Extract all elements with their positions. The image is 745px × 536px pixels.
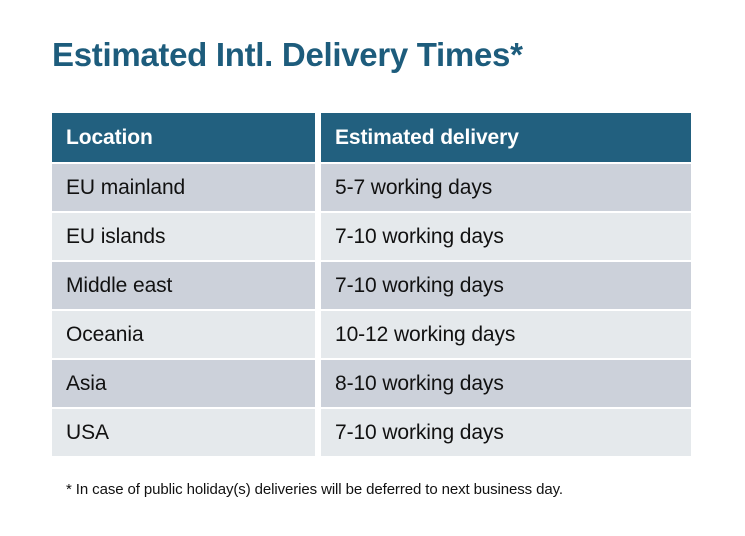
table-body: EU mainland 5-7 working days EU islands … (52, 162, 691, 456)
cell-location: EU mainland (52, 162, 321, 211)
table-header-row: Location Estimated delivery (52, 113, 691, 162)
cell-delivery: 5-7 working days (321, 162, 691, 211)
column-header-location: Location (52, 113, 321, 162)
delivery-times-table: Location Estimated delivery EU mainland … (52, 113, 691, 456)
table-row: Oceania 10-12 working days (52, 309, 691, 358)
cell-delivery: 7-10 working days (321, 211, 691, 260)
table-row: Middle east 7-10 working days (52, 260, 691, 309)
cell-delivery: 8-10 working days (321, 358, 691, 407)
cell-location: Middle east (52, 260, 321, 309)
table-row: USA 7-10 working days (52, 407, 691, 456)
cell-location: Oceania (52, 309, 321, 358)
cell-location: EU islands (52, 211, 321, 260)
table-row: EU islands 7-10 working days (52, 211, 691, 260)
table-header: Location Estimated delivery (52, 113, 691, 162)
cell-delivery: 7-10 working days (321, 407, 691, 456)
table-row: Asia 8-10 working days (52, 358, 691, 407)
cell-delivery: 10-12 working days (321, 309, 691, 358)
cell-location: USA (52, 407, 321, 456)
page-title: Estimated Intl. Delivery Times* (52, 36, 523, 74)
delivery-times-page: Estimated Intl. Delivery Times* Location… (0, 0, 745, 536)
cell-delivery: 7-10 working days (321, 260, 691, 309)
cell-location: Asia (52, 358, 321, 407)
footnote-text: * In case of public holiday(s) deliverie… (66, 481, 563, 498)
table-row: EU mainland 5-7 working days (52, 162, 691, 211)
column-header-estimated-delivery: Estimated delivery (321, 113, 691, 162)
